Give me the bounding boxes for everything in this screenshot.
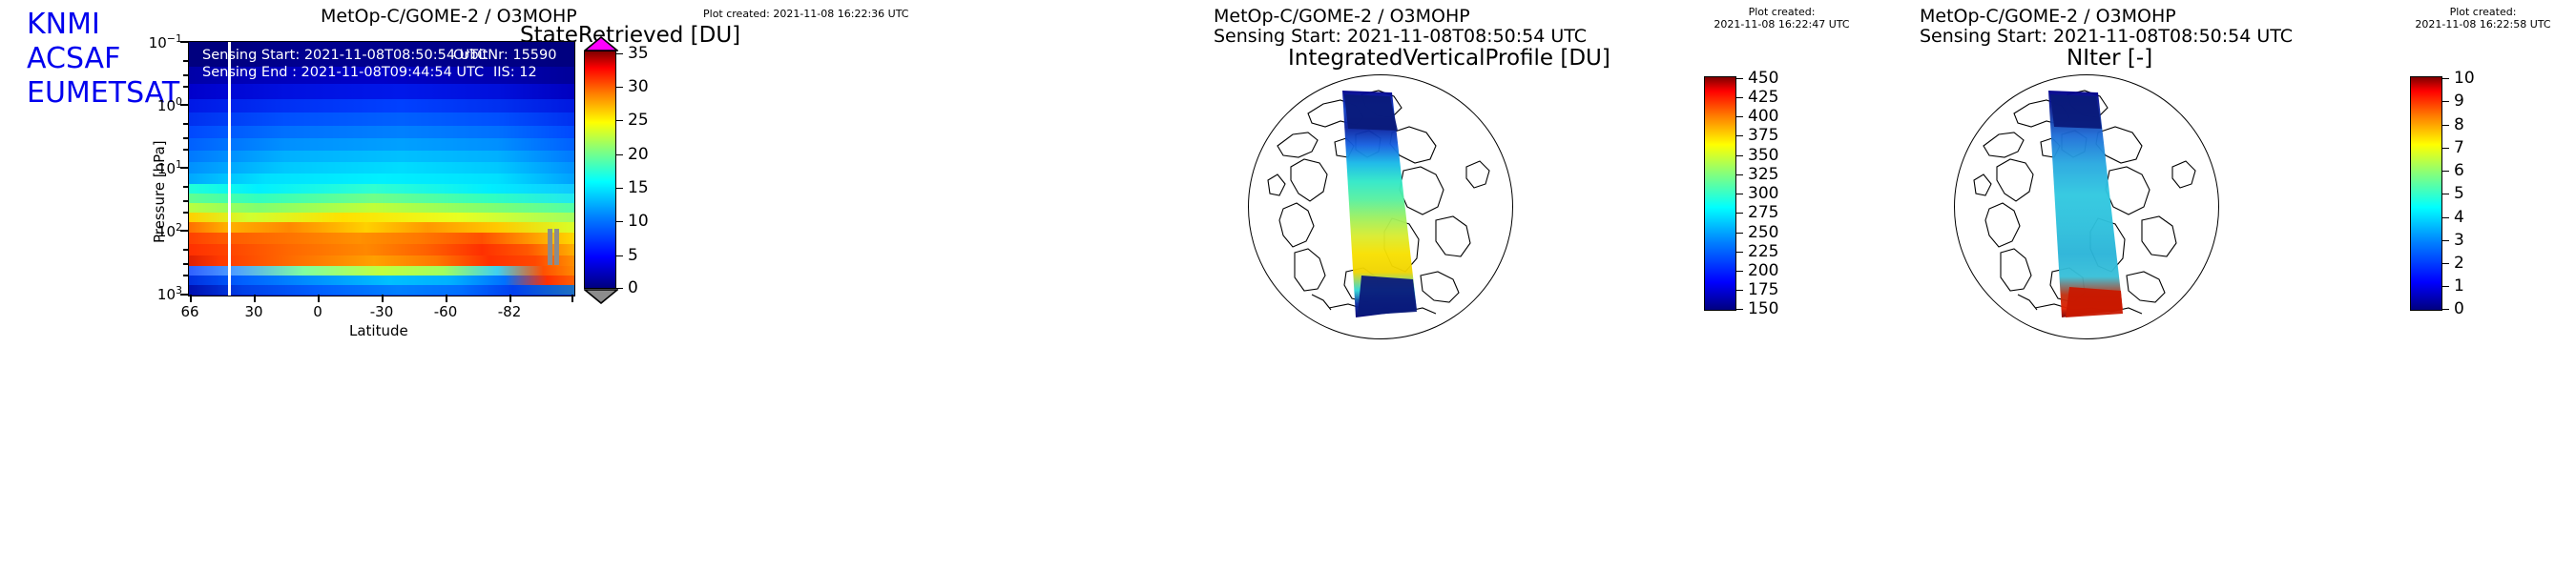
panel1-plot-created: Plot created: 2021-11-08 16:22:36 UTC — [703, 8, 870, 20]
panel1-annot-sensing-start: Sensing Start: 2021-11-08T08:50:54 UTC — [202, 48, 487, 63]
colorbar1-tick-15: 15 — [628, 178, 649, 197]
colorbar1-over-triangle — [584, 36, 618, 51]
colorbar1-tick-0: 0 — [628, 278, 638, 297]
panel2-variable-title: IntegratedVerticalProfile [DU] — [1288, 46, 1610, 71]
panel2-plot-created: Plot created: 2021-11-08 16:22:47 UTC — [1698, 6, 1865, 31]
panel1-ytick-1e1: 101 — [135, 158, 182, 177]
colorbar3-tick-3: 3 — [2454, 231, 2464, 250]
colorbar2-tick-250: 250 — [1748, 223, 1778, 242]
colorbar1-tick-25: 25 — [628, 111, 649, 130]
panel3-variable-title: NIter [-] — [2067, 46, 2152, 71]
colorbar3-tick-1: 1 — [2454, 276, 2464, 296]
colorbar2-tick-350: 350 — [1748, 146, 1778, 165]
colorbar2-tick-300: 300 — [1748, 184, 1778, 203]
panel-state-retrieved: MetOp-C/GOME-2 / O3MOHP StateRetrieved [… — [0, 0, 1174, 572]
panel2-sensing-start: Sensing Start: 2021-11-08T08:50:54 UTC — [1214, 26, 1587, 47]
colorbar3-tick-5: 5 — [2454, 184, 2464, 203]
colorbar3-tick-0: 0 — [2454, 299, 2464, 318]
colorbar1-under-triangle — [584, 288, 618, 304]
colorbar2-gradient — [1704, 76, 1736, 311]
panel1-xtick-66: 66 — [166, 303, 214, 320]
panel2-globe — [1248, 74, 1513, 339]
colorbar1-tick-10: 10 — [628, 212, 649, 231]
colorbar2-tick-400: 400 — [1748, 107, 1778, 126]
colorbar1-tick-30: 30 — [628, 77, 649, 96]
colorbar3-tick-9: 9 — [2454, 92, 2464, 111]
colorbar2-tick-175: 175 — [1748, 280, 1778, 299]
panel3-sensing-start: Sensing Start: 2021-11-08T08:50:54 UTC — [1920, 26, 2293, 47]
figure-canvas: KNMI ACSAF EUMETSAT MetOp-C/GOME-2 / O3M… — [0, 0, 2576, 572]
colorbar2-tick-225: 225 — [1748, 242, 1778, 261]
panel3-orbit-swath — [1955, 75, 2218, 338]
panel1-xtick-30: 30 — [230, 303, 278, 320]
colorbar1-tick-35: 35 — [628, 44, 649, 63]
panel1-annot-iis: IIS: 12 — [493, 65, 537, 80]
panel1-annot-orbit-nr: OrbitNr: 15590 — [453, 48, 556, 63]
panel1-xtick-m82: -82 — [486, 303, 533, 320]
panel3-colorbar: 10 9 8 7 6 5 4 3 2 1 0 — [2410, 76, 2534, 311]
panel2-orbit-swath — [1249, 75, 1512, 338]
panel1-ytick-1e3: 103 — [135, 284, 182, 303]
colorbar3-tick-8: 8 — [2454, 115, 2464, 134]
panel2-colorbar: 450 425 400 375 350 325 300 275 250 225 … — [1704, 76, 1828, 311]
panel1-xtick-m60: -60 — [422, 303, 469, 320]
panel-niter: MetOp-C/GOME-2 / O3MOHP Sensing Start: 2… — [1880, 0, 2576, 572]
colorbar3-tick-6: 6 — [2454, 161, 2464, 180]
panel1-ytick-1e2: 102 — [135, 221, 182, 240]
panel1-plot-area: Sensing Start: 2021-11-08T08:50:54 UTC S… — [188, 41, 575, 296]
panel1-colorbar: 35 30 25 20 15 10 5 0 — [584, 36, 689, 303]
colorbar3-tick-10: 10 — [2454, 69, 2475, 88]
colorbar2-tick-325: 325 — [1748, 165, 1778, 184]
panel2-instrument-title: MetOp-C/GOME-2 / O3MOHP — [1214, 6, 1470, 27]
colorbar2-tick-275: 275 — [1748, 203, 1778, 222]
panel3-globe — [1954, 74, 2219, 339]
colorbar2-tick-375: 375 — [1748, 126, 1778, 145]
panel3-plot-created: Plot created: 2021-11-08 16:22:58 UTC — [2399, 6, 2566, 31]
colorbar3-tick-2: 2 — [2454, 254, 2464, 273]
colorbar2-tick-200: 200 — [1748, 261, 1778, 280]
panel1-xtick-m30: -30 — [358, 303, 405, 320]
colorbar3-gradient — [2410, 76, 2442, 311]
panel1-x-axis-label: Latitude — [349, 322, 408, 339]
panel1-xtick-0: 0 — [294, 303, 342, 320]
colorbar2-tick-450: 450 — [1748, 69, 1778, 88]
panel1-annot-sensing-end: Sensing End : 2021-11-08T09:44:54 UTC — [202, 65, 484, 80]
colorbar3-tick-4: 4 — [2454, 208, 2464, 227]
colorbar1-tick-20: 20 — [628, 145, 649, 164]
colorbar1-tick-5: 5 — [628, 246, 638, 265]
colorbar2-tick-425: 425 — [1748, 88, 1778, 107]
panel3-instrument-title: MetOp-C/GOME-2 / O3MOHP — [1920, 6, 2176, 27]
panel1-ytick-1e-1: 10−1 — [135, 32, 182, 51]
colorbar1-gradient — [584, 51, 616, 289]
colorbar3-tick-7: 7 — [2454, 138, 2464, 157]
colorbar2-tick-150: 150 — [1748, 299, 1778, 318]
panel-integrated-vertical-profile: MetOp-C/GOME-2 / O3MOHP Sensing Start: 2… — [1174, 0, 1880, 572]
panel1-ytick-1e0: 100 — [135, 95, 182, 114]
